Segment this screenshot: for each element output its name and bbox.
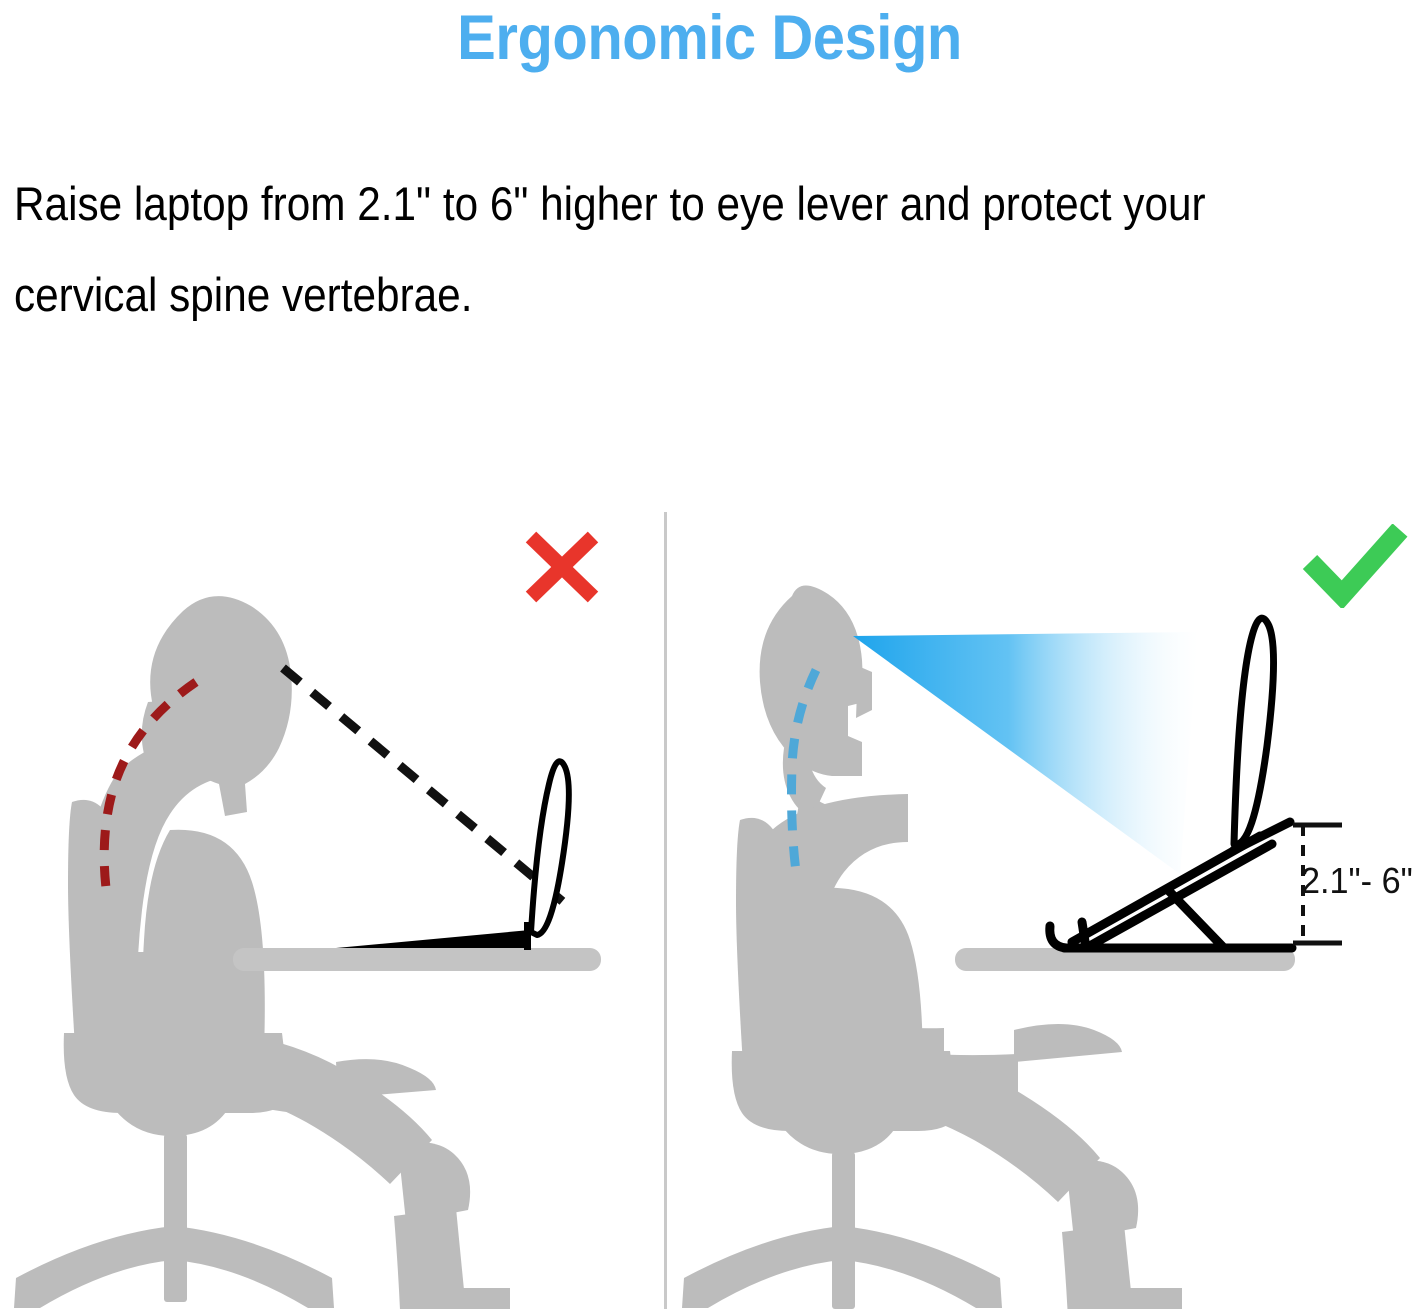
infographic-page: Ergonomic Design Raise laptop from 2.1" … [0,0,1419,1309]
page-subtitle: Raise laptop from 2.1" to 6" higher to e… [14,158,1256,340]
laptop-bad [336,761,569,950]
desk-surface-bad [233,948,601,971]
height-range-label: 2.1"- 6" [1301,861,1413,901]
page-title: Ergonomic Design [57,2,1362,74]
laptop-good [1234,618,1274,844]
panel-divider [664,512,667,1309]
sight-line-bad [283,668,568,906]
cross-icon [520,528,604,606]
check-icon [1300,524,1410,608]
